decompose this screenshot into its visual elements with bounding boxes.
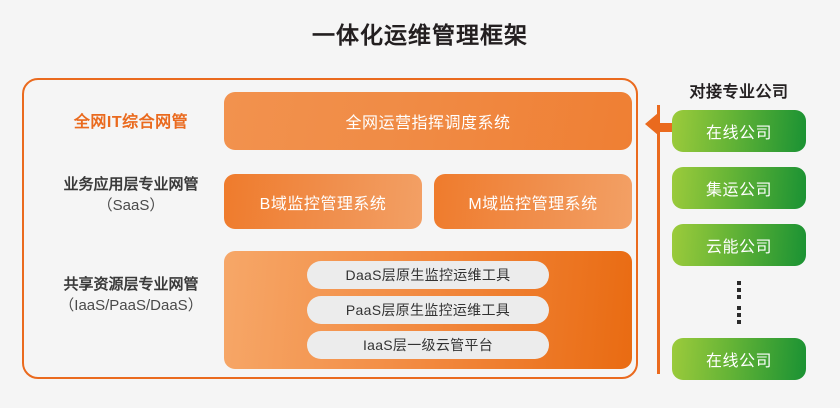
tool-pill-daas[interactable]: DaaS层原生监控运维工具 [307,261,549,289]
layer-label-sub: （SaaS） [38,195,224,216]
connector-arrow-left-icon [645,105,675,151]
layer-row-it-comprehensive: 全网运营指挥调度系统 [224,92,632,150]
ellipsis-dot [737,288,741,292]
layer-row-saas: B域监控管理系统 M域监控管理系统 [224,174,632,229]
layer-label-saas: 业务应用层专业网管 （SaaS） [38,174,224,217]
partner-ellipsis-icon [672,281,806,323]
ellipsis-group-lower [737,306,741,324]
box-m-domain-monitoring[interactable]: M域监控管理系统 [434,174,632,229]
layer-label-main: 共享资源层专业网管 [38,274,224,295]
ellipsis-dot [737,320,741,324]
layer-box-group: B域监控管理系统 M域监控管理系统 [224,174,632,229]
ellipsis-group-upper [737,281,741,299]
box-command-system[interactable]: 全网运营指挥调度系统 [224,92,632,150]
box-b-domain-monitoring[interactable]: B域监控管理系统 [224,174,422,229]
layer-label-main: 全网IT综合网管 [38,112,224,135]
layer-row-shared-resource: DaaS层原生监控运维工具 PaaS层原生监控运维工具 IaaS层一级云管平台 [224,251,632,369]
layer-label-sub: （IaaS/PaaS/DaaS） [38,295,224,316]
layer-label-main: 业务应用层专业网管 [38,174,224,195]
ellipsis-dot [737,281,741,285]
tool-pill-iaas[interactable]: IaaS层一级云管平台 [307,331,549,359]
framework-container: 全网IT综合网管 业务应用层专业网管 （SaaS） 共享资源层专业网管 （Iaa… [22,78,638,379]
partners-panel: 对接专业公司 在线公司 集运公司 云能公司 在线公司 [672,78,820,395]
partners-heading: 对接专业公司 [672,78,806,102]
ellipsis-dot [737,295,741,299]
layer-label-it-comprehensive: 全网IT综合网管 [38,112,224,135]
partner-pill-jiyun[interactable]: 集运公司 [672,167,806,209]
partner-pill-online-2[interactable]: 在线公司 [672,338,806,380]
box-shared-resource-panel: DaaS层原生监控运维工具 PaaS层原生监控运维工具 IaaS层一级云管平台 [224,251,632,369]
partner-pill-online-1[interactable]: 在线公司 [672,110,806,152]
partner-pill-yunneng[interactable]: 云能公司 [672,224,806,266]
page-title: 一体化运维管理框架 [0,20,840,50]
ellipsis-dot [737,313,741,317]
ellipsis-dot [737,306,741,310]
layer-label-shared-resource: 共享资源层专业网管 （IaaS/PaaS/DaaS） [38,274,224,317]
tool-pill-paas[interactable]: PaaS层原生监控运维工具 [307,296,549,324]
